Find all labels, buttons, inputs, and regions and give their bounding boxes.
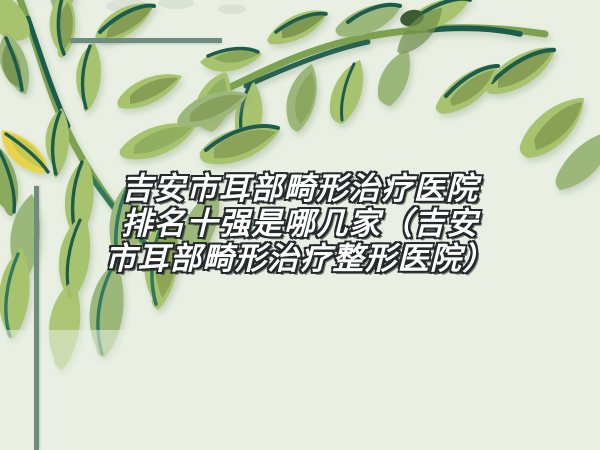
title-line-1: 吉安市耳部畸形治疗医院 — [0, 172, 600, 207]
title-line-3: 市耳部畸形治疗整形医院） — [0, 242, 600, 277]
horizontal-divider — [70, 38, 222, 43]
top-branch-group — [195, 0, 600, 190]
page-title: 吉安市耳部畸形治疗医院 排名十强是哪几家（吉安 市耳部畸形治疗整形医院） — [0, 172, 600, 277]
lower-left-fade — [0, 330, 300, 450]
banner-canvas: 吉安市耳部畸形治疗医院 排名十强是哪几家（吉安 市耳部畸形治疗整形医院） — [0, 0, 600, 450]
title-line-2: 排名十强是哪几家（吉安 — [0, 207, 600, 242]
